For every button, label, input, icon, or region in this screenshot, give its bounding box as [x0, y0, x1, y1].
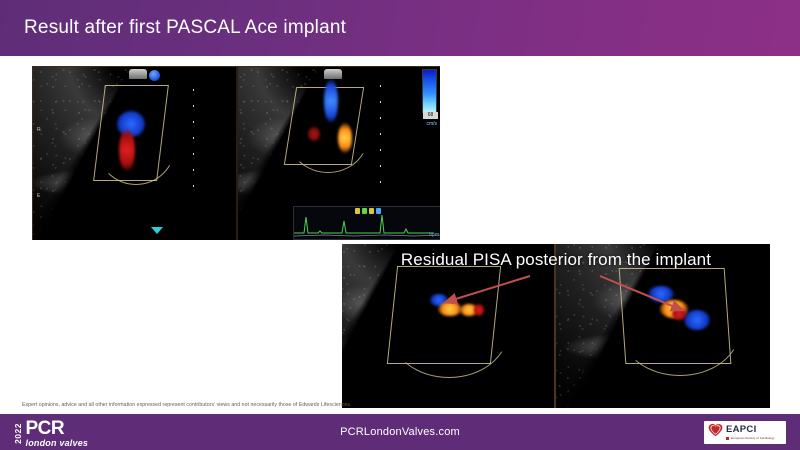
eapci-logo: EAPCI European Society of Cardiology — [704, 421, 786, 444]
doppler-jet-red — [672, 308, 686, 320]
footer-url[interactable]: PCRLondonValves.com — [0, 426, 800, 438]
ecg-icon-4 — [376, 208, 381, 214]
pcr-logo-year: 2022 — [14, 423, 23, 444]
orientation-marker-icon — [149, 70, 160, 81]
velocity-unit: cm/s — [426, 121, 437, 127]
slide-header: Result after first PASCAL Ace implant — [0, 0, 800, 56]
doppler-jet-red — [119, 129, 135, 171]
echo-pane-top-left: R E — [33, 67, 236, 240]
tee-angle-marker-icon — [151, 227, 163, 234]
doppler-jet-red — [474, 304, 484, 316]
side-label-e: E — [37, 193, 41, 199]
eapci-name: EAPCI — [726, 425, 775, 435]
doppler-jet-blue-2 — [684, 310, 710, 330]
ecg-icon-1 — [355, 208, 360, 214]
echo-pane-top-right: 68 cm/s bpm — [238, 67, 440, 240]
ecg-control-icons[interactable] — [355, 208, 381, 214]
eapci-square-icon — [726, 437, 729, 440]
doppler-jet-orange — [338, 123, 352, 153]
ecg-bpm-label: bpm — [429, 232, 439, 238]
slide-root: Result after first PASCAL Ace implant R … — [0, 0, 800, 450]
probe-apex-marker — [129, 69, 147, 79]
velocity-color-bar — [422, 69, 437, 113]
eapci-text: EAPCI European Society of Cardiology — [726, 425, 775, 440]
velocity-value: 68 — [423, 112, 438, 119]
slide-footer: PCRLondonValves.com — [0, 414, 800, 450]
pcr-logo: 2022 PCR london valves — [14, 418, 88, 448]
heart-icon — [708, 423, 723, 442]
eapci-subtitle-row: European Society of Cardiology — [726, 437, 775, 440]
side-label-r: R — [37, 127, 41, 133]
ecg-icon-2 — [362, 208, 367, 214]
depth-scale-ticks — [380, 85, 381, 195]
echo-image-bottom: Residual PISA posterior from the implant — [342, 244, 770, 408]
echo-image-top: R E 68 cm/s — [32, 66, 440, 240]
pcr-logo-text: PCR london valves — [26, 419, 89, 448]
depth-scale-ticks — [193, 89, 194, 193]
eapci-subtitle: European Society of Cardiology — [731, 437, 775, 440]
pcr-logo-subtitle: london valves — [26, 439, 89, 448]
page-title: Result after first PASCAL Ace implant — [24, 17, 346, 39]
pcr-logo-main: PCR — [26, 419, 89, 438]
probe-apex-marker — [324, 69, 342, 79]
ecg-icon-3 — [369, 208, 374, 214]
ecg-strip: bpm — [293, 206, 440, 240]
doppler-jet-blue — [324, 79, 338, 123]
doppler-jet-orange — [438, 302, 462, 316]
echo-pane-bottom-right — [556, 244, 770, 408]
echo-pane-bottom-left — [342, 244, 554, 408]
doppler-jet-red — [308, 127, 320, 141]
disclaimer-text: Expert opinions, advice and all other in… — [22, 401, 522, 409]
